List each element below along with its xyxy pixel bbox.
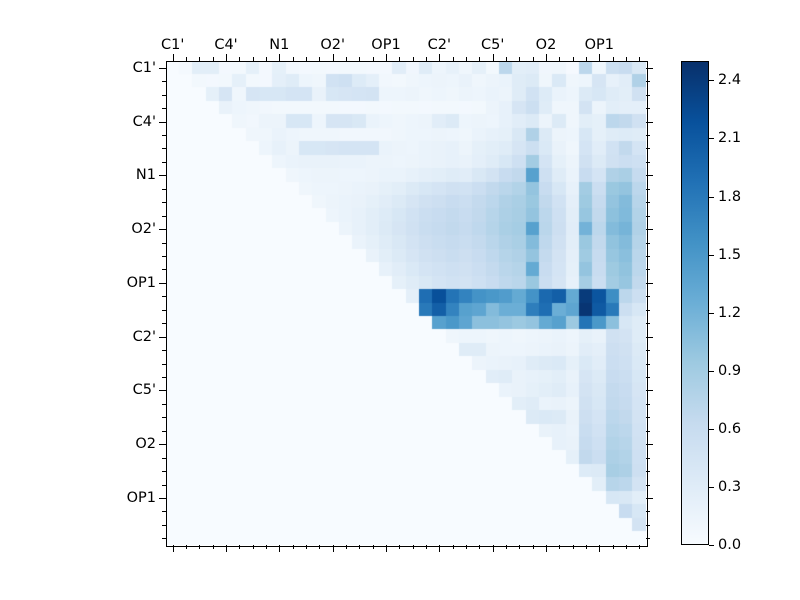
y-tick-left <box>159 283 166 284</box>
y-tick-label: OP1 <box>127 276 156 291</box>
x-tick-top <box>573 57 574 61</box>
y-tick-right <box>646 189 650 190</box>
x-tick-bottom <box>413 545 414 549</box>
x-tick-top <box>613 57 614 61</box>
y-tick-left <box>159 337 166 338</box>
y-tick-right <box>646 135 650 136</box>
y-tick-left <box>159 390 166 391</box>
y-tick-left <box>162 364 166 365</box>
y-tick-left <box>162 404 166 405</box>
colorbar-tick-label: 2.4 <box>718 73 741 88</box>
x-tick-top <box>253 57 254 61</box>
y-tick-right <box>646 283 653 284</box>
y-tick-left <box>162 417 166 418</box>
y-tick-right <box>646 68 653 69</box>
x-tick-label: N1 <box>269 38 289 53</box>
y-tick-right <box>646 229 653 230</box>
y-tick-left <box>159 498 166 499</box>
x-tick-label: OP1 <box>585 38 614 53</box>
x-tick-bottom <box>213 545 214 549</box>
x-tick-bottom <box>226 545 227 552</box>
y-tick-right <box>646 148 650 149</box>
y-tick-right <box>646 81 650 82</box>
y-tick-left <box>162 135 166 136</box>
x-tick-bottom <box>319 545 320 549</box>
colorbar-gradient <box>681 61 709 545</box>
x-tick-top <box>519 57 520 61</box>
x-tick-top <box>279 54 280 61</box>
y-tick-left <box>162 471 166 472</box>
y-tick-left <box>162 243 166 244</box>
y-tick-left <box>162 377 166 378</box>
y-tick-right <box>646 404 650 405</box>
x-tick-label: O2' <box>320 38 345 53</box>
x-tick-top <box>439 54 440 61</box>
heatmap-axes[interactable]: C1'C4'N1O2'OP1C2'C5'O2OP1 C1'C4'N1O2'OP1… <box>166 61 646 545</box>
x-tick-top <box>626 57 627 61</box>
y-tick-right <box>646 431 650 432</box>
x-tick-label: O2 <box>536 38 557 53</box>
x-tick-bottom <box>293 545 294 549</box>
y-tick-right <box>646 256 650 257</box>
x-tick-bottom <box>253 545 254 549</box>
y-tick-right <box>646 377 650 378</box>
x-tick-top <box>173 54 174 61</box>
colorbar-tick-label: 1.8 <box>718 189 741 204</box>
x-tick-top <box>533 57 534 61</box>
x-tick-bottom <box>559 545 560 549</box>
x-tick-top <box>333 54 334 61</box>
y-tick-label: C4' <box>133 114 156 129</box>
x-tick-bottom <box>359 545 360 549</box>
x-tick-bottom <box>586 545 587 549</box>
y-tick-left <box>162 216 166 217</box>
x-tick-top <box>199 57 200 61</box>
x-tick-top <box>506 57 507 61</box>
y-tick-left <box>159 68 166 69</box>
x-tick-top <box>239 57 240 61</box>
y-tick-label: O2' <box>131 222 156 237</box>
x-tick-bottom <box>546 545 547 552</box>
y-tick-left <box>162 189 166 190</box>
y-tick-right <box>646 296 650 297</box>
y-tick-right <box>646 108 650 109</box>
y-tick-right <box>646 162 650 163</box>
x-tick-top <box>306 57 307 61</box>
colorbar-tick-label: 0.6 <box>718 422 741 437</box>
heatmap-image[interactable] <box>166 61 646 545</box>
x-tick-label: C5' <box>481 38 504 53</box>
x-tick-bottom <box>466 545 467 549</box>
colorbar-tick-label: 0.0 <box>718 538 741 553</box>
colorbar-tick-label: 1.5 <box>718 247 741 262</box>
x-tick-label: C4' <box>214 38 237 53</box>
x-tick-bottom <box>386 545 387 552</box>
colorbar-tick <box>709 545 714 546</box>
x-tick-bottom <box>186 545 187 549</box>
colorbar[interactable]: 0.00.30.60.91.21.51.82.12.4 <box>681 61 709 545</box>
x-tick-bottom <box>613 545 614 549</box>
y-tick-left <box>162 323 166 324</box>
colorbar-tick <box>709 197 714 198</box>
y-tick-right <box>646 444 653 445</box>
y-tick-left <box>162 95 166 96</box>
x-tick-top <box>639 57 640 61</box>
x-tick-bottom <box>199 545 200 549</box>
y-tick-left <box>162 256 166 257</box>
x-tick-top <box>213 57 214 61</box>
y-tick-right <box>646 216 650 217</box>
colorbar-tick <box>709 80 714 81</box>
x-tick-bottom <box>373 545 374 549</box>
y-tick-label: C5' <box>133 383 156 398</box>
colorbar-tick <box>709 138 714 139</box>
x-tick-bottom <box>173 545 174 552</box>
x-tick-top <box>373 57 374 61</box>
colorbar-tick-label: 2.1 <box>718 131 741 146</box>
y-tick-label: C1' <box>133 60 156 75</box>
colorbar-tick <box>709 371 714 372</box>
x-tick-top <box>293 57 294 61</box>
figure-canvas: C1'C4'N1O2'OP1C2'C5'O2OP1 C1'C4'N1O2'OP1… <box>0 0 800 600</box>
y-tick-right <box>646 323 650 324</box>
y-tick-left <box>162 108 166 109</box>
x-tick-top <box>399 57 400 61</box>
x-tick-top <box>559 57 560 61</box>
y-tick-label: N1 <box>136 168 156 183</box>
y-tick-right <box>646 538 650 539</box>
x-tick-bottom <box>333 545 334 552</box>
y-tick-right <box>646 202 650 203</box>
colorbar-tick <box>709 487 714 488</box>
x-tick-bottom <box>306 545 307 549</box>
x-tick-top <box>546 54 547 61</box>
y-tick-left <box>159 444 166 445</box>
x-tick-top <box>226 54 227 61</box>
y-tick-left <box>162 162 166 163</box>
y-tick-right <box>646 269 650 270</box>
colorbar-tick <box>709 313 714 314</box>
y-tick-right <box>646 511 650 512</box>
y-tick-left <box>162 296 166 297</box>
x-tick-top <box>319 57 320 61</box>
y-tick-left <box>159 229 166 230</box>
x-tick-bottom <box>479 545 480 549</box>
y-tick-left <box>162 431 166 432</box>
x-tick-bottom <box>399 545 400 549</box>
x-tick-top <box>186 57 187 61</box>
y-tick-right <box>646 350 650 351</box>
x-tick-bottom <box>533 545 534 549</box>
y-tick-label: O2 <box>135 437 156 452</box>
y-tick-left <box>162 269 166 270</box>
x-tick-bottom <box>266 545 267 549</box>
colorbar-tick-label: 1.2 <box>718 305 741 320</box>
x-tick-bottom <box>599 545 600 552</box>
y-tick-left <box>162 458 166 459</box>
x-tick-top <box>413 57 414 61</box>
y-tick-right <box>646 337 653 338</box>
y-tick-left <box>159 175 166 176</box>
x-tick-top <box>599 54 600 61</box>
y-tick-right <box>646 175 653 176</box>
x-tick-bottom <box>626 545 627 549</box>
x-tick-label: OP1 <box>371 38 400 53</box>
x-tick-top <box>586 57 587 61</box>
y-tick-label: OP1 <box>127 491 156 506</box>
y-tick-left <box>162 511 166 512</box>
y-tick-right <box>646 417 650 418</box>
x-tick-bottom <box>573 545 574 549</box>
x-tick-bottom <box>426 545 427 549</box>
x-tick-top <box>346 57 347 61</box>
x-tick-top <box>266 57 267 61</box>
y-tick-left <box>162 485 166 486</box>
colorbar-tick-label: 0.9 <box>718 364 741 379</box>
y-tick-right <box>646 458 650 459</box>
y-tick-left <box>162 538 166 539</box>
x-tick-top <box>386 54 387 61</box>
y-tick-right <box>646 122 653 123</box>
x-tick-bottom <box>279 545 280 552</box>
y-tick-right <box>646 498 653 499</box>
x-tick-label: C1' <box>161 38 184 53</box>
colorbar-tick <box>709 429 714 430</box>
x-tick-top <box>359 57 360 61</box>
y-tick-right <box>646 485 650 486</box>
x-tick-top <box>493 54 494 61</box>
y-tick-left <box>162 148 166 149</box>
y-tick-right <box>646 390 653 391</box>
colorbar-tick <box>709 255 714 256</box>
y-tick-right <box>646 525 650 526</box>
y-tick-left <box>162 202 166 203</box>
x-tick-bottom <box>493 545 494 552</box>
x-tick-bottom <box>639 545 640 549</box>
x-tick-top <box>453 57 454 61</box>
y-tick-right <box>646 471 650 472</box>
x-tick-top <box>466 57 467 61</box>
x-tick-top <box>426 57 427 61</box>
x-tick-label: C2' <box>428 38 451 53</box>
y-tick-right <box>646 95 650 96</box>
colorbar-tick-label: 0.3 <box>718 480 741 495</box>
y-tick-left <box>162 81 166 82</box>
y-tick-left <box>162 310 166 311</box>
y-tick-label: C2' <box>133 329 156 344</box>
x-tick-bottom <box>506 545 507 549</box>
y-tick-right <box>646 243 650 244</box>
x-tick-bottom <box>439 545 440 552</box>
x-tick-bottom <box>453 545 454 549</box>
x-tick-top <box>479 57 480 61</box>
x-tick-bottom <box>519 545 520 549</box>
y-tick-left <box>162 350 166 351</box>
y-tick-right <box>646 364 650 365</box>
y-tick-left <box>162 525 166 526</box>
x-tick-bottom <box>346 545 347 549</box>
y-tick-left <box>159 122 166 123</box>
x-tick-bottom <box>239 545 240 549</box>
y-tick-right <box>646 310 650 311</box>
